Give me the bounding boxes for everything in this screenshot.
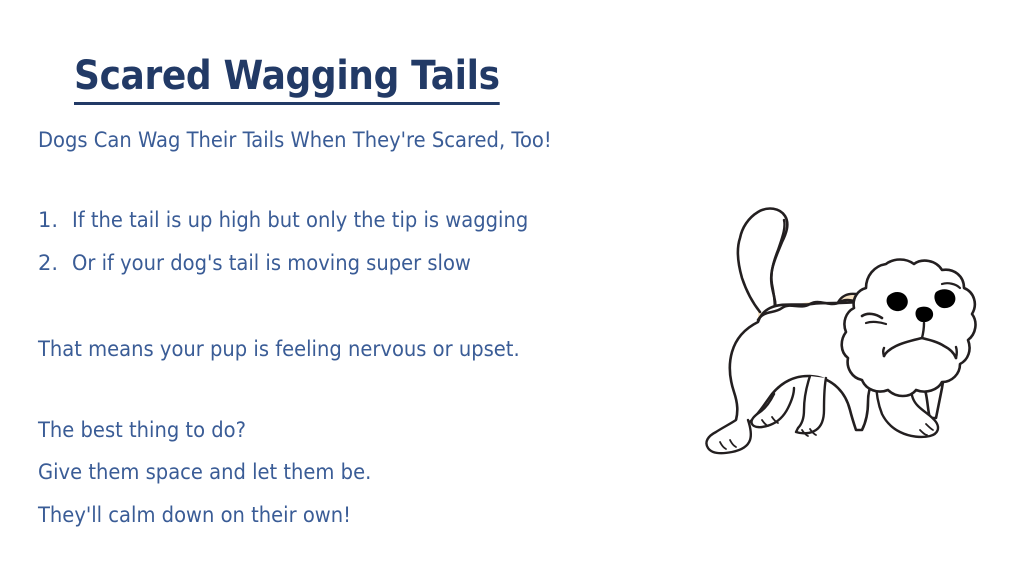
head-shape [842,260,976,397]
advice-line-1: The best thing to do? [38,418,246,443]
paw-rear-left [706,420,750,453]
list-item-number: 2. [38,251,68,275]
numbered-list: 1. If the tail is up high but only the t… [38,208,738,294]
list-item: 1. If the tail is up high but only the t… [38,208,738,251]
puppy-drawing [706,209,975,454]
leg-front-inner [796,376,826,433]
mouth-tick-right [956,347,957,358]
advice-line-3: They'll calm down on their own! [38,503,351,528]
page-title: Scared Wagging Tails [74,53,500,105]
mouth-tick-left [883,348,884,356]
list-item: 2. Or if your dog's tail is moving super… [38,251,738,294]
puppy-illustration [690,190,1000,475]
meaning-text: That means your pup is feeling nervous o… [38,337,520,362]
list-item-label: If the tail is up high but only the tip … [72,208,528,232]
list-item-label: Or if your dog's tail is moving super sl… [72,251,471,275]
tail-shape [738,209,788,316]
advice-line-2: Give them space and let them be. [38,460,371,485]
slide-canvas: Scared Wagging Tails Dogs Can Wag Their … [0,0,1024,576]
list-item-number: 1. [38,208,68,232]
nose-shape [915,307,933,323]
subtitle-text: Dogs Can Wag Their Tails When They're Sc… [38,128,552,153]
